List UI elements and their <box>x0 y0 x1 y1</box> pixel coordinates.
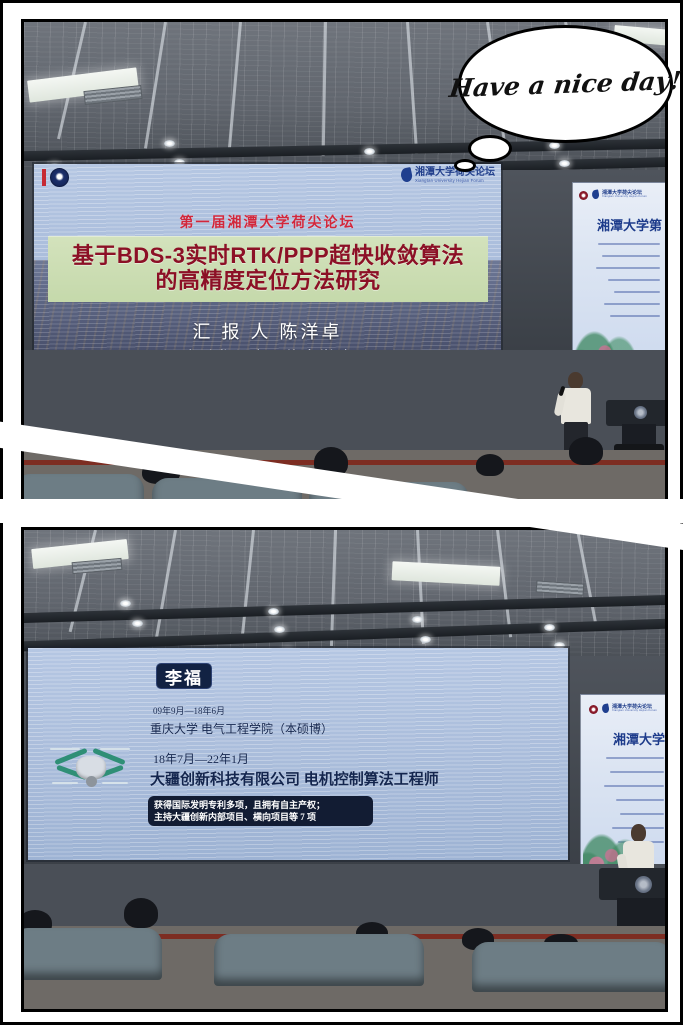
stage-wall <box>24 864 665 926</box>
speech-bubble-tail-small <box>454 159 476 172</box>
side-screen-title: 湘潭大学第 <box>597 215 662 234</box>
university-seal-icon <box>50 168 69 187</box>
work-period: 18年7月—22年1月 <box>153 750 249 767</box>
ceiling <box>24 530 665 658</box>
flame-icon <box>400 167 414 183</box>
main-projection-screen: 李福 09年9月—18年6月 重庆大学 电气工程学院（本硕博） 18年7月—22… <box>28 648 568 860</box>
side-flame-icon <box>591 189 600 199</box>
slide-name-badge: 李福 <box>156 663 212 689</box>
achievement-line-2: 主持大疆创新内部项目、横向项目等 7 项 <box>154 811 367 823</box>
podium-emblem-icon <box>634 406 647 419</box>
side-screen-seal-icon <box>579 191 588 200</box>
forum-logo-cn: 湘潭大学荷尖论坛 <box>415 168 495 179</box>
side-flame-icon <box>601 703 610 713</box>
drone-icon <box>50 740 130 798</box>
education-period: 09年9月—18年6月 <box>153 704 225 717</box>
speech-bubble-text: Have a nice day! <box>448 65 683 102</box>
audience-head <box>476 454 504 476</box>
slide-title-line-2: 的高精度定位方法研究 <box>48 269 488 294</box>
side-logo-en: Xiangtan University Hejian Forum <box>602 196 647 199</box>
achievement-box: 获得国际发明专利多项，且拥有自主产权； 主持大疆创新内部项目、横向项目等 7 项 <box>148 796 373 826</box>
speech-bubble: Have a nice day! <box>458 25 673 143</box>
panel-gutter <box>0 499 683 523</box>
audience-seat <box>24 928 162 980</box>
forum-logo: 湘潭大学荷尖论坛 Xiangtan University Hejian Foru… <box>401 168 495 183</box>
main-projection-screen: 湘潭大学荷尖论坛 Xiangtan University Hejian Foru… <box>34 164 501 364</box>
slide-title-box: 基于BDS-3实时RTK/PPP超快收敛算法 的高精度定位方法研究 <box>48 236 488 302</box>
speech-bubble-body: Have a nice day! <box>458 25 673 143</box>
comic-panel-2: 李福 09年9月—18年6月 重庆大学 电气工程学院（本硕博） 18年7月—22… <box>21 527 668 1012</box>
forum-banner-text: 第一届湘潭大学荷尖论坛 <box>34 212 501 232</box>
slide-title-line-1: 基于BDS-3实时RTK/PPP超快收敛算法 <box>48 244 488 269</box>
audience-head <box>569 437 603 465</box>
audience-head <box>124 898 158 928</box>
slide-corner-logo <box>42 168 69 187</box>
achievement-line-1: 获得国际发明专利多项，且拥有自主产权； <box>154 799 367 811</box>
audience-seat <box>472 942 665 992</box>
audience-seat <box>214 934 424 986</box>
education-detail: 重庆大学 电气工程学院（本硕博） <box>150 720 333 737</box>
forum-logo-en: Xiangtan University Hejian Forum <box>415 179 495 183</box>
side-logo-en: Xiangtan University Hejian Forum <box>612 710 657 713</box>
panel-2-photo: 李福 09年9月—18年6月 重庆大学 电气工程学院（本硕博） 18年7月—22… <box>24 530 665 1009</box>
side-screen-title: 湘潭大学 <box>613 729 665 748</box>
slide-presenter-line: 汇 报 人 陈洋卓 <box>34 318 501 344</box>
comic-page: 湘潭大学荷尖论坛 Xiangtan University Hejian Foru… <box>0 0 683 1025</box>
audience-seat <box>24 474 144 501</box>
speech-bubble-tail-large <box>468 135 512 162</box>
red-bar-icon <box>42 169 46 186</box>
podium-emblem-icon <box>635 876 652 893</box>
work-detail: 大疆创新科技有限公司 电机控制算法工程师 <box>150 768 439 789</box>
side-screen-seal-icon <box>589 705 598 714</box>
